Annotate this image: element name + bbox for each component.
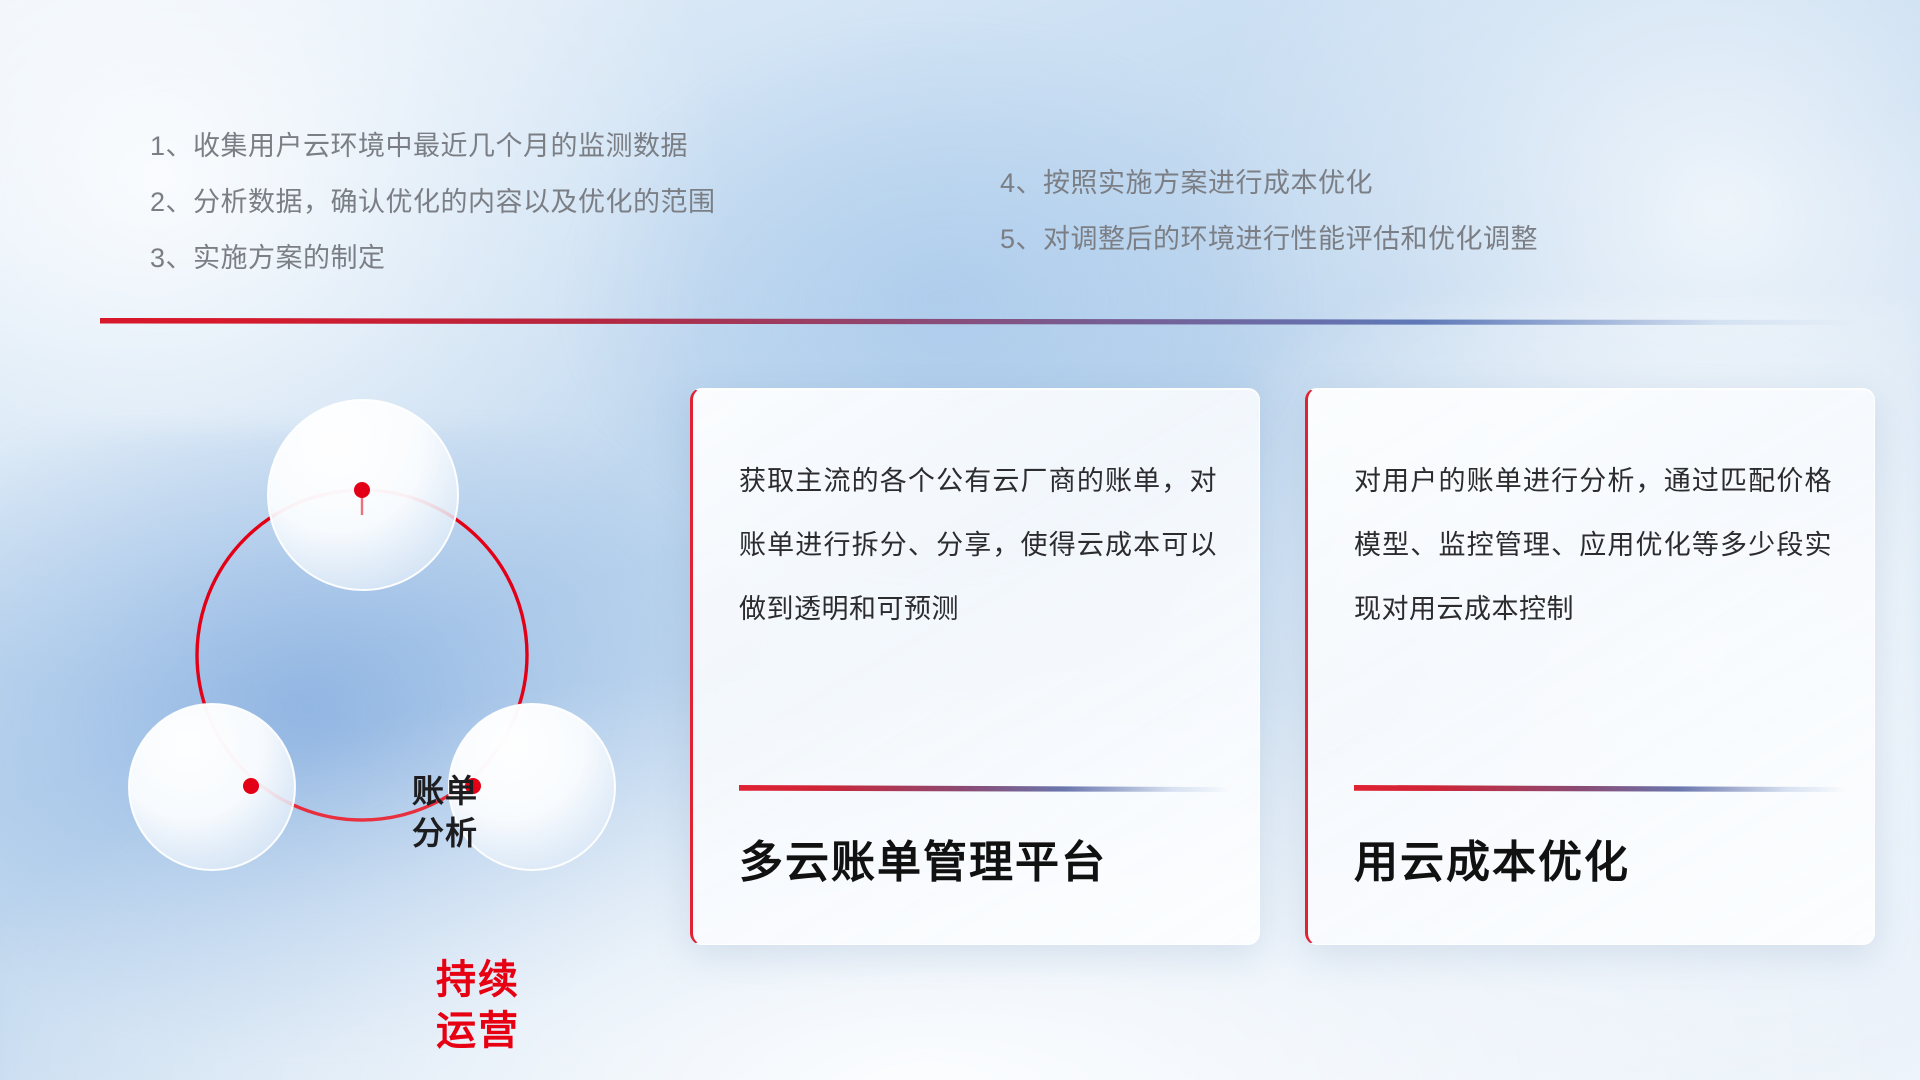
steps-right-column: 4、按照实施方案进行成本优化 5、对调整后的环境进行性能评估和优化调整 — [1000, 155, 1538, 267]
card-title: 用云成本优化 — [1354, 826, 1832, 890]
card-cloud-cost-optimization[interactable]: 对用户的账单进行分析，通过匹配价格模型、监控管理、应用优化等多少段实现对用云成本… — [1305, 388, 1875, 945]
venn-svg — [100, 355, 660, 955]
step-item-3: 3、实施方案的制定 — [150, 230, 716, 286]
divider-gradient-bar — [100, 318, 1860, 325]
step-item-5: 5、对调整后的环境进行性能评估和优化调整 — [1000, 211, 1538, 267]
steps-left-column: 1、收集用户云环境中最近几个月的监测数据 2、分析数据，确认优化的内容以及优化的… — [150, 118, 716, 286]
card-body-text: 对用户的账单进行分析，通过匹配价格模型、监控管理、应用优化等多少段实现对用云成本… — [1354, 449, 1832, 641]
section-divider — [100, 318, 1860, 325]
venn-diagram: 账单 分析 操作 运营 优化 策略 持续 运营 — [100, 355, 660, 955]
card-accent-rule — [1354, 785, 1846, 792]
step-item-4: 4、按照实施方案进行成本优化 — [1000, 155, 1538, 211]
card-title: 多云账单管理平台 — [739, 826, 1217, 890]
card-body-text: 获取主流的各个公有云厂商的账单，对账单进行拆分、分享，使得云成本可以做到透明和可… — [739, 449, 1217, 641]
venn-bubble-operations — [129, 704, 295, 870]
step-item-1: 1、收集用户云环境中最近几个月的监测数据 — [150, 118, 716, 174]
card-accent-rule — [739, 785, 1231, 792]
card-multi-cloud-billing-platform[interactable]: 获取主流的各个公有云厂商的账单，对账单进行拆分、分享，使得云成本可以做到透明和可… — [690, 388, 1260, 945]
venn-label-billing-analysis: 账单 分析 — [355, 770, 535, 854]
step-item-2: 2、分析数据，确认优化的内容以及优化的范围 — [150, 174, 716, 230]
venn-label-center-continuous-ops: 持续 运营 — [368, 955, 588, 1057]
venn-node-dot-left — [243, 778, 259, 794]
